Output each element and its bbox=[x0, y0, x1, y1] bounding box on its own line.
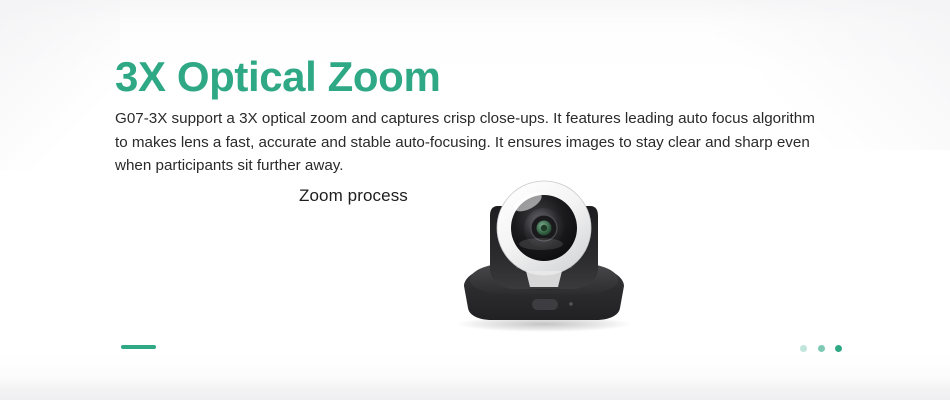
carousel-dot-1[interactable] bbox=[800, 345, 807, 352]
page-title: 3X Optical Zoom bbox=[115, 53, 440, 100]
carousel-dot-3[interactable] bbox=[835, 345, 842, 352]
bottom-divider bbox=[0, 378, 950, 400]
carousel-dot-2[interactable] bbox=[818, 345, 825, 352]
carousel-dots[interactable] bbox=[800, 341, 842, 355]
zoom-process-caption: Zoom process bbox=[299, 186, 408, 206]
status-led bbox=[569, 302, 572, 305]
progress-indicator bbox=[121, 345, 156, 349]
camera-illustration bbox=[440, 168, 650, 338]
camera-pivot-collar bbox=[526, 271, 562, 287]
product-feature-slide: 3X Optical Zoom G07-3X support a 3X opti… bbox=[0, 0, 950, 400]
camera-head bbox=[497, 181, 591, 275]
ir-receiver bbox=[532, 299, 558, 310]
background-gradient-left bbox=[0, 0, 120, 170]
